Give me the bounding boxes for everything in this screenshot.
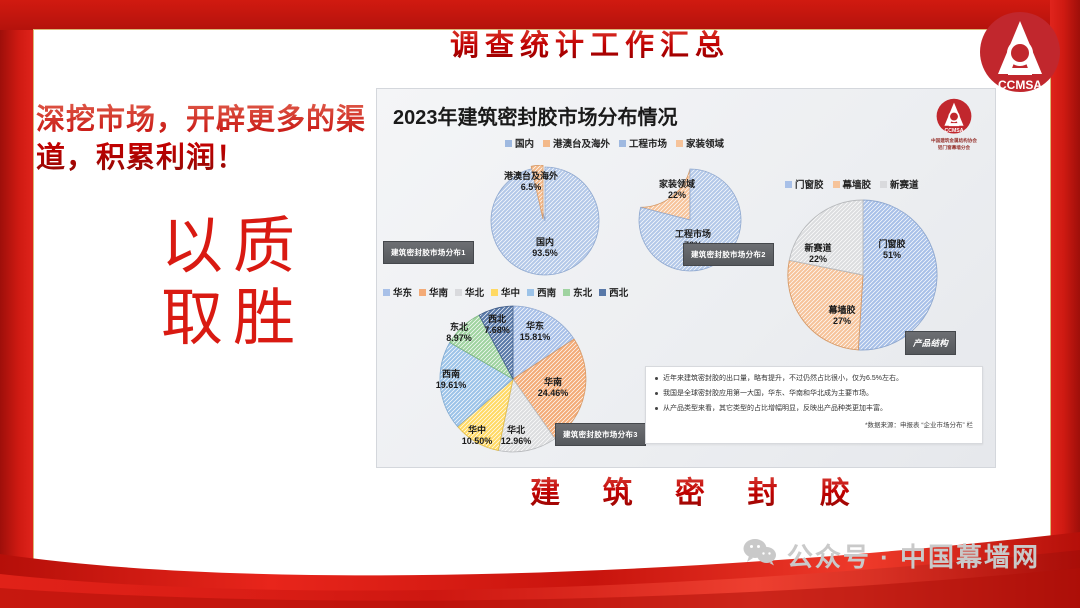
- pie4-label-huabei: 华北 12.96%: [495, 425, 537, 447]
- legend-swatch-icon: [527, 289, 534, 296]
- legend-item-new-track: 新赛道: [880, 177, 919, 191]
- mini-logo-caption-2: 铝门窗幕墙分会: [923, 145, 985, 151]
- pie4-label-huazhong: 华中 10.50%: [453, 425, 501, 447]
- legend-item-dongbei: 东北: [563, 285, 592, 299]
- legend-label: 华北: [465, 285, 484, 299]
- legend-label: 工程市场: [629, 136, 667, 150]
- ccmsa-mini-logo: CCMSA 中国建筑金属结构协会 铝门窗幕墙分会: [923, 97, 985, 151]
- legend-swatch-icon: [785, 181, 792, 188]
- note-item: 我国是全球密封胶应用第一大国，华东、华南和华北成为主要市场。: [655, 389, 973, 398]
- legend-label: 新赛道: [890, 177, 919, 191]
- legend-label: 港澳台及海外: [553, 136, 610, 150]
- pie3-label-new-track: 新赛道 22%: [791, 243, 845, 265]
- big-slogan-line1: 以质: [118, 210, 338, 282]
- legend-swatch-icon: [880, 181, 887, 188]
- chart-panel: 2023年建筑密封胶市场分布情况 CCMSA 中国建筑金属结构协会 铝门窗幕墙分…: [376, 88, 996, 468]
- legend-item-curtainwall-glue: 幕墙胶: [833, 177, 872, 191]
- legend-item-window-glue: 门窗胶: [785, 177, 824, 191]
- bullet-icon: [655, 392, 658, 395]
- legend-item-huanan: 华南: [419, 285, 448, 299]
- legend-swatch-icon: [505, 140, 512, 147]
- headline-text: 深挖市场，开辟更多的渠道，积累利润！: [36, 100, 366, 176]
- legend-label: 门窗胶: [795, 177, 824, 191]
- callout-market-distribution-2[interactable]: 建筑密封胶市场分布2: [683, 243, 774, 266]
- watermark-text: 公众号 · 中国幕墙网: [787, 537, 1040, 574]
- bullet-icon: [655, 377, 658, 380]
- legend-label: 家装领域: [686, 136, 724, 150]
- legend-item-huabei: 华北: [455, 285, 484, 299]
- legend-swatch-icon: [563, 289, 570, 296]
- legend-row-product: 门窗胶 幕墙胶 新赛道: [785, 177, 919, 191]
- legend-swatch-icon: [676, 140, 683, 147]
- legend-swatch-icon: [491, 289, 498, 296]
- legend-label: 华东: [393, 285, 412, 299]
- legend-item-xinan: 西南: [527, 285, 556, 299]
- legend-swatch-icon: [455, 289, 462, 296]
- insights-notebox: 近年来建筑密封胶的出口量，略有提升，不过仍然占比很小，仅为6.5%左右。 我国是…: [645, 366, 983, 444]
- page-title: 调查统计工作汇总: [380, 22, 800, 64]
- legend-item-overseas: 港澳台及海外: [543, 136, 610, 150]
- legend-label: 幕墙胶: [843, 177, 872, 191]
- legend-swatch-icon: [383, 289, 390, 296]
- legend-swatch-icon: [419, 289, 426, 296]
- ccmsa-logo-text: CCMSA: [998, 78, 1042, 92]
- callout-market-distribution-1[interactable]: 建筑密封胶市场分布1: [383, 241, 474, 264]
- mini-logo-caption-1: 中国建筑金属结构协会: [923, 138, 985, 144]
- legend-swatch-icon: [599, 289, 606, 296]
- ccmsa-logo: CCMSA: [974, 8, 1066, 100]
- watermark: 公众号 · 中国幕墙网: [743, 537, 1040, 574]
- legend-label: 西南: [537, 285, 556, 299]
- legend-swatch-icon: [543, 140, 550, 147]
- callout-market-distribution-3[interactable]: 建筑密封胶市场分布3: [555, 423, 646, 446]
- note-item: 从产品类型来看，其它类型的占比增幅明显，反映出产品种类更加丰富。: [655, 404, 973, 413]
- svg-text:CCMSA: CCMSA: [944, 128, 963, 134]
- legend-label: 华中: [501, 285, 520, 299]
- legend-item-xibei: 西北: [599, 285, 628, 299]
- pie4-label-xibei: 西北 7.68%: [473, 314, 521, 336]
- note-text: 从产品类型来看，其它类型的占比增幅明显，反映出产品种类更加丰富。: [663, 404, 887, 413]
- note-item: 近年来建筑密封胶的出口量，略有提升，不过仍然占比很小，仅为6.5%左右。: [655, 374, 973, 383]
- legend-swatch-icon: [619, 140, 626, 147]
- legend-label: 国内: [515, 136, 534, 150]
- legend-item-home: 家装领域: [676, 136, 724, 150]
- bullet-icon: [655, 407, 658, 410]
- wechat-icon: [743, 538, 777, 573]
- pie2-label-home: 家装领域 22%: [649, 179, 705, 201]
- pie-chart-product-structure: [785, 197, 941, 353]
- legend-item-huadong: 华东: [383, 285, 412, 299]
- big-slogan: 以质 取胜: [118, 210, 338, 354]
- pie3-label-window-glue: 门窗胶 51%: [865, 239, 919, 261]
- legend-label: 西北: [609, 285, 628, 299]
- note-text: 我国是全球密封胶应用第一大国，华东、华南和华北成为主要市场。: [663, 389, 873, 398]
- callout-product-structure[interactable]: 产品结构: [905, 331, 956, 355]
- pie4-label-xinan: 西南 19.61%: [427, 369, 475, 391]
- big-slogan-line2: 取胜: [118, 282, 338, 354]
- legend-item-guonei: 国内: [505, 136, 534, 150]
- pie4-label-huanan: 华南 24.46%: [529, 377, 577, 399]
- legend-row-top: 国内 港澳台及海外 工程市场 家装领域: [505, 136, 724, 150]
- legend-label: 东北: [573, 285, 592, 299]
- legend-label: 华南: [429, 285, 448, 299]
- bottom-caption: 建 筑 密 封 胶: [500, 468, 880, 512]
- legend-item-huazhong: 华中: [491, 285, 520, 299]
- chart-panel-title: 2023年建筑密封胶市场分布情况: [393, 101, 678, 130]
- legend-item-engineering: 工程市场: [619, 136, 667, 150]
- pie1-label-domestic: 国内 93.5%: [517, 237, 573, 259]
- legend-swatch-icon: [833, 181, 840, 188]
- legend-row-regions: 华东 华南 华北 华中 西南 东北: [383, 285, 628, 299]
- slide-root: CCMSA 调查统计工作汇总 深挖市场，开辟更多的渠道，积累利润！ 以质 取胜 …: [0, 0, 1080, 608]
- data-source-note: *数据来源：申报表 “企业市场分布” 栏: [655, 419, 973, 429]
- note-text: 近年来建筑密封胶的出口量，略有提升，不过仍然占比很小，仅为6.5%左右。: [663, 374, 903, 383]
- pie1-label-overseas: 港澳台及海外 6.5%: [503, 171, 559, 193]
- pie3-label-curtainwall-glue: 幕墙胶 27%: [815, 305, 869, 327]
